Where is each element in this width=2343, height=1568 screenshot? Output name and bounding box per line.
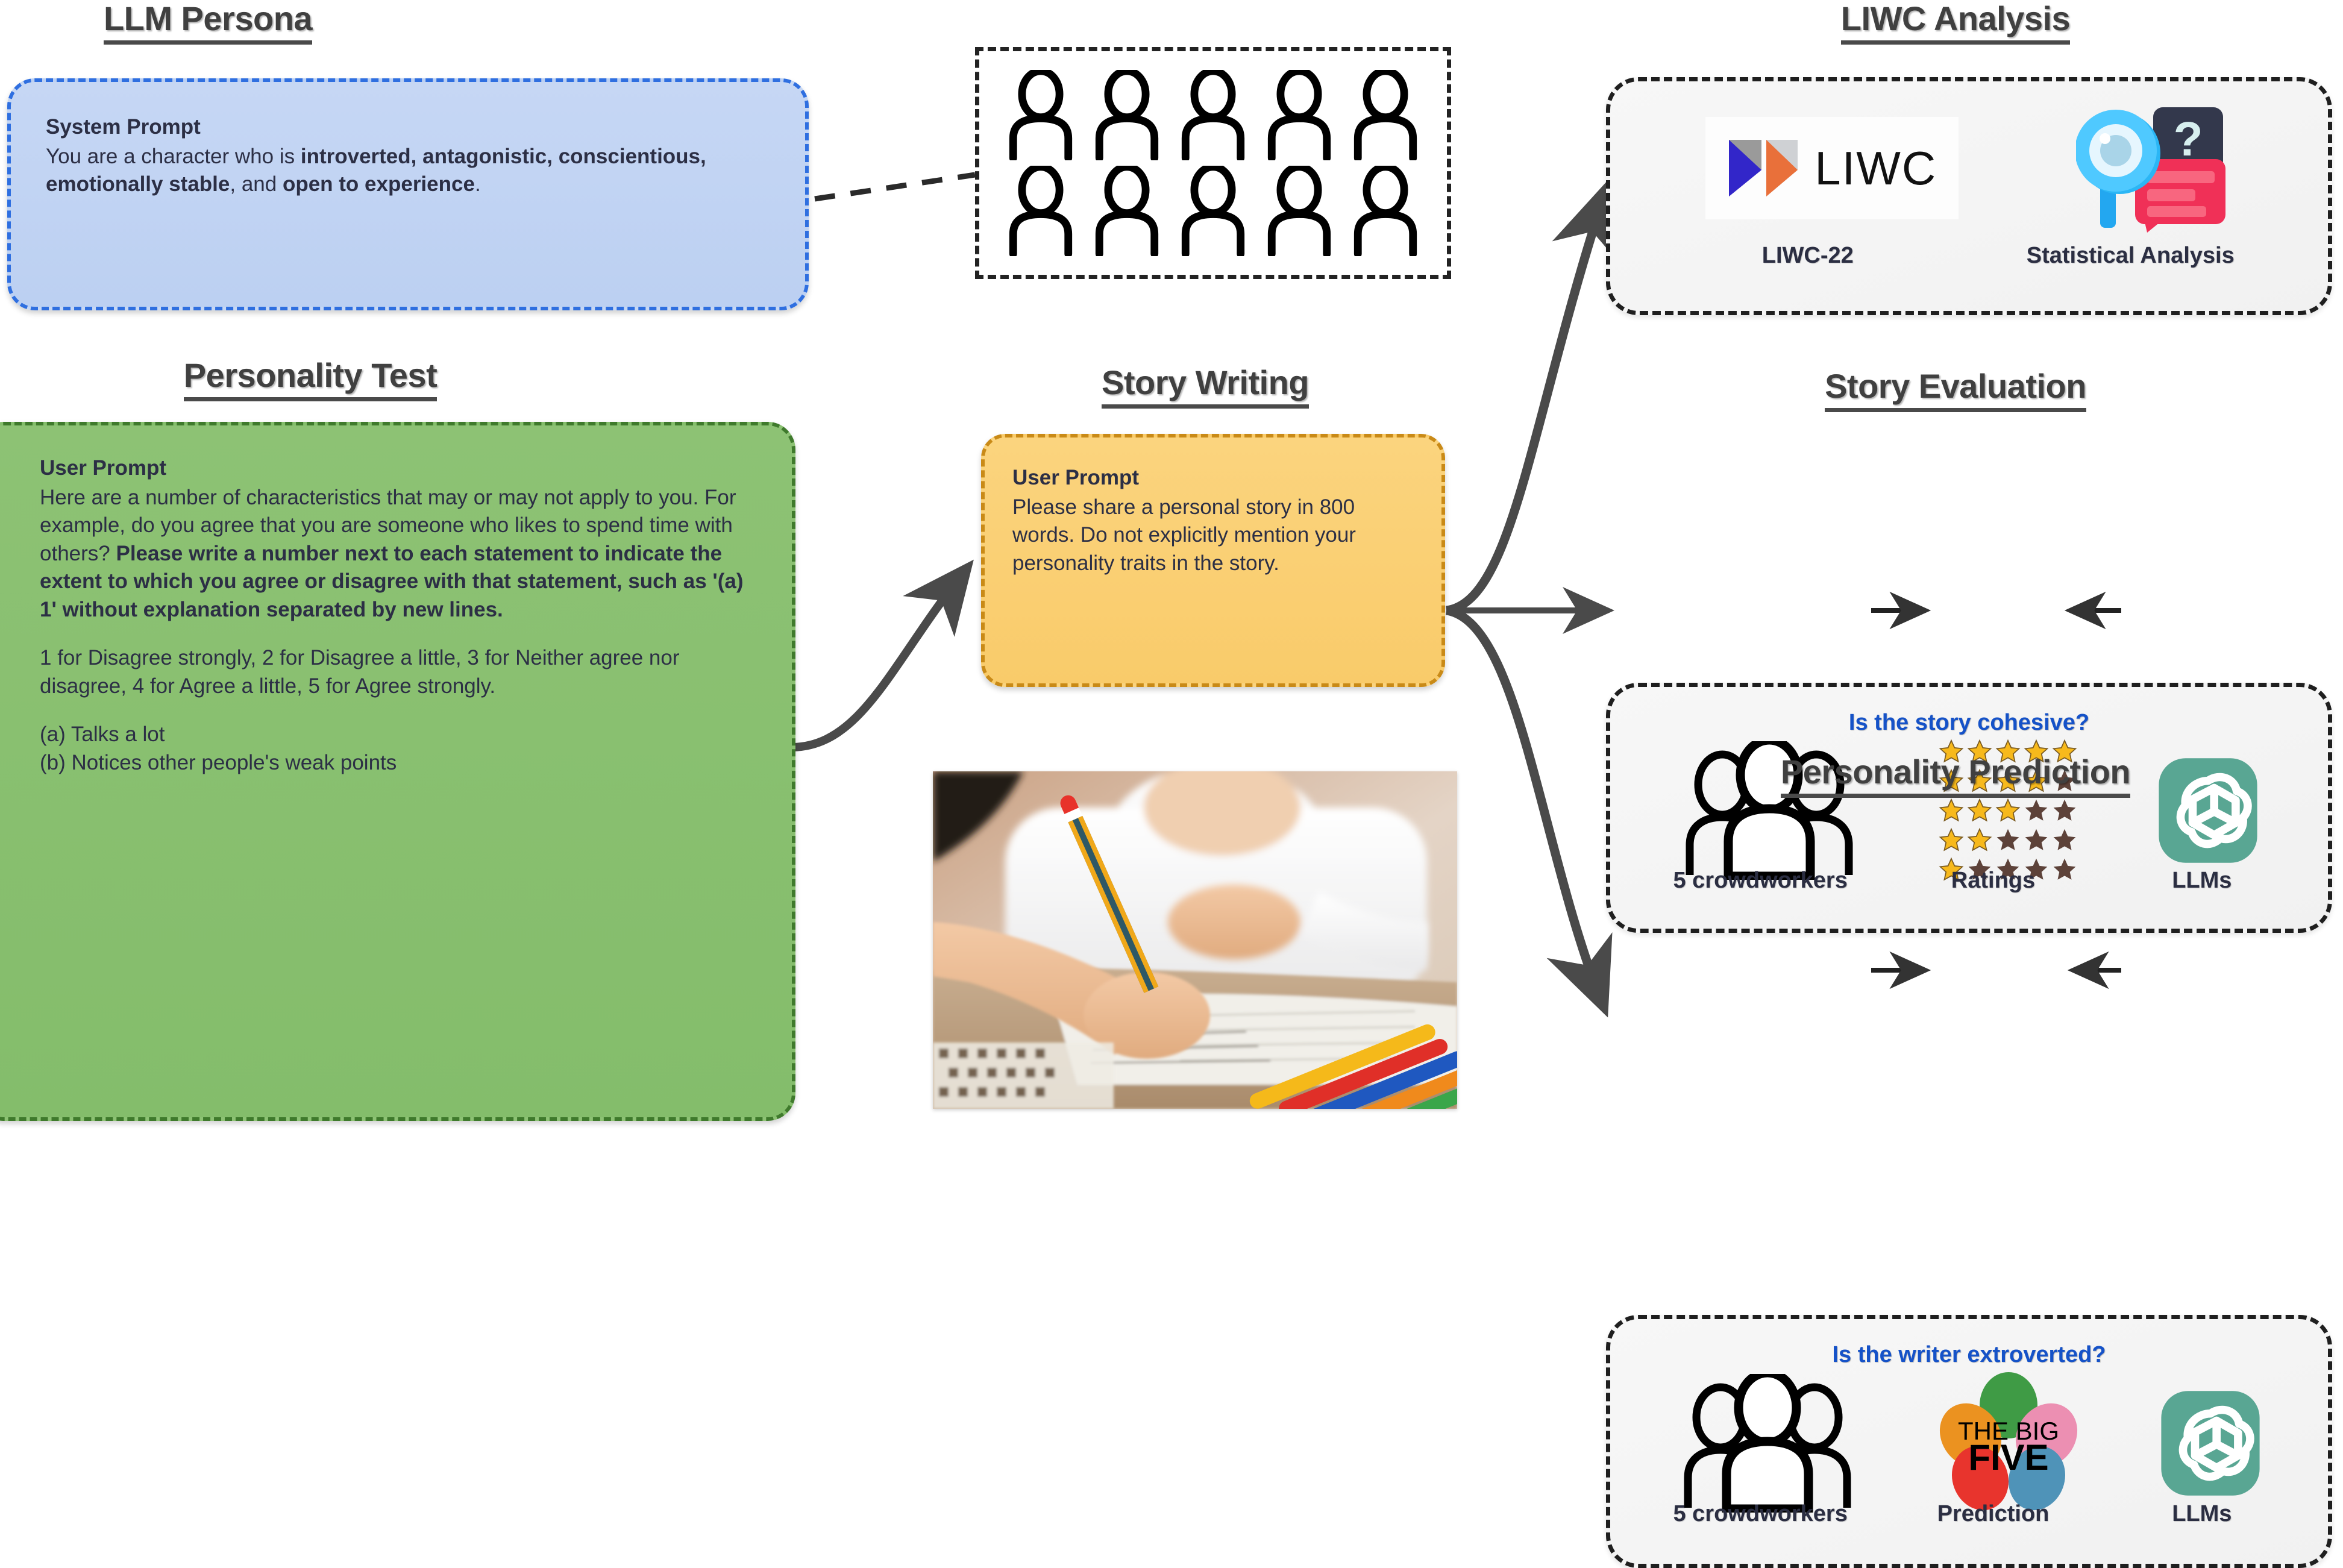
star-empty-icon [2024,798,2049,823]
personality-test-item-a: (a) Talks a lot [40,721,757,749]
section-title-story-evaluation: Story Evaluation [1621,366,2290,412]
big-five-icon: THE BIG FIVE [1933,1372,2084,1514]
person-icon [1094,70,1160,160]
personality-test-item-b: (b) Notices other people's weak points [40,749,757,777]
person-icon [1094,166,1160,256]
star-filled-icon [1939,798,1964,823]
story-prompt-heading: User Prompt [1012,464,1415,492]
star-empty-icon [1995,827,2021,853]
crowdworkers-icon [1677,1374,1858,1513]
statistical-analysis-caption: Statistical Analysis [2004,243,2257,269]
section-title-llm-persona: LLM Persona [6,0,410,45]
story-evaluation-panel: Is the story cohesive? [1606,683,2332,933]
person-icon [1008,70,1074,160]
persons-row [997,166,1429,256]
story-evaluation-llms-caption: LLMs [2112,868,2292,894]
personality-test-paragraph-1: Here are a number of characteristics tha… [40,484,757,624]
llm-persona-card: System Prompt You are a character who is… [7,78,809,310]
personality-test-card: User Prompt Here are a number of charact… [0,422,795,1121]
person-icon [1352,166,1419,256]
person-icon [1180,166,1246,256]
person-icon [1352,70,1419,160]
persona-population-grid [975,47,1451,279]
star-row [1939,798,2077,823]
prediction-llms-caption: LLMs [2112,1501,2292,1527]
liwc-wordmark: LIWC [1814,141,1937,196]
story-writing-card: User Prompt Please share a personal stor… [981,434,1445,687]
section-title-personality-prediction: Personality Prediction [1603,752,2308,798]
personality-prediction-question: Is the writer extroverted? [1610,1342,2328,1368]
section-title-personality-test: Personality Test [6,356,615,401]
openai-logo-icon [2159,1386,2262,1501]
persons-row [997,70,1429,160]
star-row [1939,827,2077,853]
story-to-prediction-arrow [1446,610,1600,997]
personality-prediction-panel: Is the writer extroverted? THE BI [1606,1315,2332,1568]
system-prompt-heading: System Prompt [46,113,770,142]
story-evaluation-crowdworkers-caption: 5 crowdworkers [1646,868,1875,894]
star-filled-icon [1939,827,1964,853]
story-evaluation-question: Is the story cohesive? [1610,710,2328,736]
prediction-caption: Prediction [1902,1501,2083,1527]
liwc-analysis-panel: LIWC ? LIWC-22 Statistical Analysis [1606,77,2332,315]
child-writing-photo [933,771,1457,1109]
test-to-story-arrow [792,575,961,747]
person-icon [1266,166,1332,256]
star-empty-icon [2052,798,2077,823]
liwc-chevrons-icon [1727,135,1799,201]
person-icon [1180,70,1246,160]
star-empty-icon [2024,827,2049,853]
section-title-story-writing: Story Writing [964,363,1446,409]
section-title-liwc-analysis: LIWC Analysis [1621,0,2290,45]
prediction-crowdworkers-caption: 5 crowdworkers [1646,1501,1875,1527]
story-to-liwc-arrow [1446,199,1603,610]
star-filled-icon [1995,798,2021,823]
liwc-version-caption: LIWC-22 [1681,243,1934,269]
svg-text:?: ? [2174,112,2203,166]
persona-to-persons-connector [815,175,975,199]
star-empty-icon [2052,827,2077,853]
liwc-logo: LIWC [1705,117,1959,219]
system-prompt-body: You are a character who is introverted, … [46,143,770,199]
ratings-caption: Ratings [1902,868,2083,894]
story-prompt-body: Please share a personal story in 800 wor… [1012,494,1415,578]
statistical-analysis-icon: ? [2076,104,2233,233]
personality-test-scale: 1 for Disagree strongly, 2 for Disagree … [40,644,757,700]
big-five-line2: FIVE [1968,1437,2048,1478]
person-icon [1008,166,1074,256]
star-filled-icon [1967,798,1992,823]
star-filled-icon [1967,827,1992,853]
person-icon [1266,70,1332,160]
user-prompt-heading: User Prompt [40,454,757,483]
